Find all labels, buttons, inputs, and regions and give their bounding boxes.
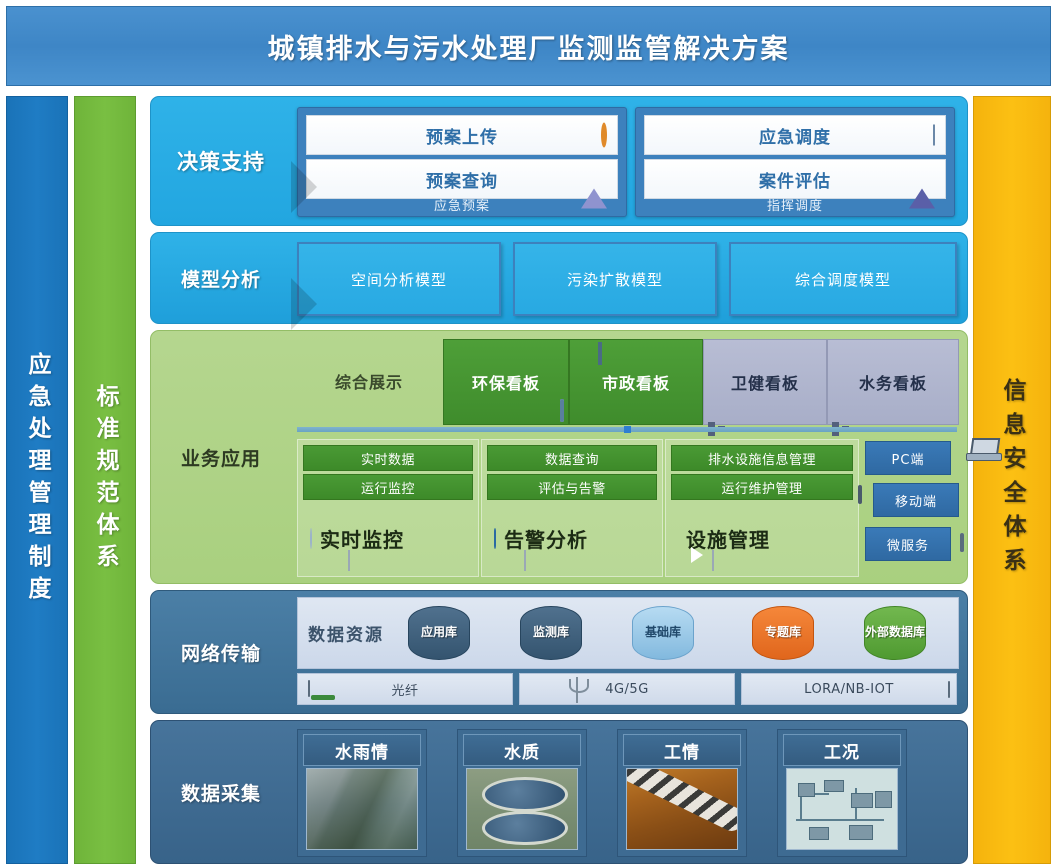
decision-item-label: 案件评估 (759, 167, 831, 192)
layer-model-analysis: 模型分析 空间分析模型 污染扩散模型 综合调度模型 (150, 232, 968, 324)
dashboard-tiles: 综合展示 环保看板 市政看板 卫健看板 水务看板 (297, 339, 957, 423)
divider-dot-icon (624, 426, 631, 433)
layer-stack: 决策支持 预案上传 预案查询 应急预案 应急调度 (150, 96, 966, 862)
model-card-label: 污染扩散模型 (567, 269, 663, 290)
dashboard-tile-label: 水务看板 (859, 370, 927, 394)
layer-label-text: 数据采集 (181, 779, 261, 806)
decision-group-caption: 应急预案 (298, 194, 626, 214)
grid-table-icon (933, 126, 935, 145)
business-feature-facility-management[interactable]: 设施管理 (672, 510, 852, 566)
transport-label: LORA/NB-IOT (804, 682, 894, 697)
phone-icon (858, 487, 862, 502)
paper-icon (712, 551, 714, 570)
buried-pipeline-photo (626, 768, 738, 850)
decision-item-case-assessment[interactable]: 案件评估 (644, 159, 946, 199)
business-feature-label: 实时监控 (320, 524, 404, 553)
database-basic[interactable]: 基础库 (632, 606, 694, 660)
data-resources-label: 数据资源 (308, 621, 384, 646)
client-button-microservice[interactable]: 微服务 (865, 527, 951, 561)
layer-network-transmission: 网络传输 数据资源 应用库 监测库 基础库 专题库 (150, 590, 968, 714)
section-divider (297, 427, 957, 432)
dashboard-section-title: 综合展示 (297, 339, 441, 423)
collection-card-water-rain[interactable]: 水雨情 (297, 729, 427, 857)
decision-group-caption: 指挥调度 (636, 194, 954, 214)
pillar-standard-system: 标准规范体系 (74, 96, 136, 864)
decision-item-plan-query[interactable]: 预案查询 (306, 159, 618, 199)
database-label: 基础库 (632, 606, 694, 660)
arrow-shadow-icon (291, 278, 317, 330)
business-column-facility: 排水设施信息管理 运行维护管理 设施管理 (665, 439, 859, 577)
pillar-information-security: 信息安全体系 (973, 96, 1051, 864)
client-endpoints: PC端 移动端 微服务 (865, 439, 957, 575)
business-bar-label: 运行监控 (361, 478, 415, 497)
page-title-bar: 城镇排水与污水处理厂监测监管解决方案 (6, 6, 1051, 86)
dashboard-tile-health[interactable]: 卫健看板 (703, 339, 827, 425)
transport-lora-nbiot[interactable]: LORA/NB-IOT (741, 673, 957, 705)
pillar-label: 标准规范体系 (88, 384, 122, 576)
collection-card-operating-condition[interactable]: 工况 (777, 729, 907, 857)
model-card-dispatch[interactable]: 综合调度模型 (729, 242, 957, 316)
transport-cellular[interactable]: 4G/5G (519, 673, 735, 705)
model-card-label: 综合调度模型 (795, 269, 891, 290)
river-channel-photo (306, 768, 418, 850)
collection-card-engineering[interactable]: 工情 (617, 729, 747, 857)
arrow-shadow-icon (291, 161, 317, 213)
database-label: 监测库 (520, 606, 582, 660)
business-bar-drainage-facility-info[interactable]: 排水设施信息管理 (671, 445, 853, 471)
business-bar-assessment-alarm[interactable]: 评估与告警 (487, 474, 657, 500)
window-icon (598, 344, 602, 363)
client-button-label: PC端 (892, 449, 925, 468)
layer-label-collection: 数据采集 (151, 721, 291, 863)
layer-label-text: 网络传输 (181, 639, 261, 666)
collection-card-label: 工况 (783, 734, 901, 766)
dashboard-tile-environment[interactable]: 环保看板 (443, 339, 569, 425)
database-thematic[interactable]: 专题库 (752, 606, 814, 660)
client-button-label: 移动端 (895, 491, 937, 510)
business-column-monitoring: 实时数据 运行监控 实时监控 (297, 439, 479, 577)
client-button-mobile[interactable]: 移动端 (873, 483, 959, 517)
layer-label-business: 业务应用 (151, 331, 291, 583)
mouse-icon (960, 535, 964, 550)
model-card-spatial[interactable]: 空间分析模型 (297, 242, 501, 316)
transport-label: 4G/5G (605, 682, 649, 697)
pillar-label: 信息安全体系 (995, 378, 1029, 582)
client-button-label: 微服务 (887, 535, 929, 554)
antenna-icon (948, 682, 950, 697)
collection-card-label: 水雨情 (303, 734, 421, 766)
layer-data-collection: 数据采集 水雨情 水质 工情 工况 (150, 720, 968, 864)
business-bar-operation-maintenance[interactable]: 运行维护管理 (671, 474, 853, 500)
layer-label-text: 业务应用 (181, 444, 261, 471)
client-button-pc[interactable]: PC端 (865, 441, 951, 475)
database-external[interactable]: 外部数据库 (864, 606, 926, 660)
diagram-root: 城镇排水与污水处理厂监测监管解决方案 应急处理管理制度 标准规范体系 信息安全体… (0, 0, 1055, 868)
business-bar-label: 运行维护管理 (721, 478, 802, 497)
circle-target-icon (601, 126, 607, 145)
pyramid-light-icon (581, 170, 607, 189)
scada-schematic-photo (786, 768, 898, 850)
business-feature-label: 告警分析 (504, 524, 588, 553)
business-bar-label: 实时数据 (361, 449, 415, 468)
database-label: 外部数据库 (864, 606, 926, 660)
transport-fiber[interactable]: 光纤 (297, 673, 513, 705)
business-bar-data-query[interactable]: 数据查询 (487, 445, 657, 471)
dashboard-tile-label: 市政看板 (602, 370, 670, 394)
transport-strip: 光纤 4G/5G LORA/NB-IOT (297, 673, 957, 705)
layer-decision-support: 决策支持 预案上传 预案查询 应急预案 应急调度 (150, 96, 968, 226)
model-card-label: 空间分析模型 (351, 269, 447, 290)
transport-label: 光纤 (391, 680, 418, 699)
decision-item-label: 预案查询 (426, 167, 498, 192)
paper-icon (348, 551, 350, 570)
layer-label-text: 模型分析 (181, 265, 261, 292)
database-application[interactable]: 应用库 (408, 606, 470, 660)
business-bar-label: 数据查询 (545, 449, 599, 468)
database-monitoring[interactable]: 监测库 (520, 606, 582, 660)
decision-item-emergency-dispatch[interactable]: 应急调度 (644, 115, 946, 155)
layer-business-application: 业务应用 综合展示 环保看板 市政看板 卫健看板 (150, 330, 968, 584)
sedimentation-tanks-photo (466, 768, 578, 850)
business-bar-realtime-data[interactable]: 实时数据 (303, 445, 473, 471)
dashboard-tile-label: 环保看板 (472, 370, 540, 394)
database-label: 专题库 (752, 606, 814, 660)
pillar-label: 应急处理管理制度 (20, 352, 54, 608)
layer-label-text: 决策支持 (177, 146, 265, 176)
collection-card-water-quality[interactable]: 水质 (457, 729, 587, 857)
pyramid-dark-icon (909, 170, 935, 189)
dashboard-tile-water[interactable]: 水务看板 (827, 339, 959, 425)
page-title: 城镇排水与污水处理厂监测监管解决方案 (268, 27, 790, 66)
decision-item-plan-upload[interactable]: 预案上传 (306, 115, 618, 155)
database-label: 应用库 (408, 606, 470, 660)
decision-item-label: 应急调度 (759, 123, 831, 148)
dashboard-title-text: 综合展示 (335, 369, 403, 393)
collection-card-label: 工情 (623, 734, 741, 766)
decision-item-label: 预案上传 (426, 123, 498, 148)
globe-icon (310, 529, 312, 548)
decision-group-emergency-plan: 预案上传 预案查询 应急预案 (297, 107, 627, 217)
model-card-pollution[interactable]: 污染扩散模型 (513, 242, 717, 316)
paper-icon (524, 551, 526, 570)
business-bar-label: 评估与告警 (538, 478, 606, 497)
layer-label-model: 模型分析 (151, 233, 291, 323)
layer-label-network: 网络传输 (151, 591, 291, 713)
business-column-alarm: 数据查询 评估与告警 告警分析 (481, 439, 663, 577)
collection-card-label: 水质 (463, 734, 581, 766)
business-feature-alarm-analysis[interactable]: 告警分析 (488, 510, 656, 566)
fiber-switch-icon (308, 681, 310, 696)
dashboard-tile-municipal[interactable]: 市政看板 (569, 339, 703, 425)
business-bar-operation-monitor[interactable]: 运行监控 (303, 474, 473, 500)
pillar-emergency-management: 应急处理管理制度 (6, 96, 68, 864)
cylinder-icon (494, 529, 496, 548)
decision-group-command-dispatch: 应急调度 案件评估 指挥调度 (635, 107, 955, 217)
monitor-icon (560, 401, 564, 420)
layer-label-decision: 决策支持 (151, 97, 291, 225)
dashboard-tile-label: 卫健看板 (731, 370, 799, 394)
business-bar-label: 排水设施信息管理 (708, 449, 816, 468)
business-feature-realtime-monitoring[interactable]: 实时监控 (304, 510, 472, 566)
data-resources-panel: 数据资源 应用库 监测库 基础库 专题库 (297, 597, 959, 669)
